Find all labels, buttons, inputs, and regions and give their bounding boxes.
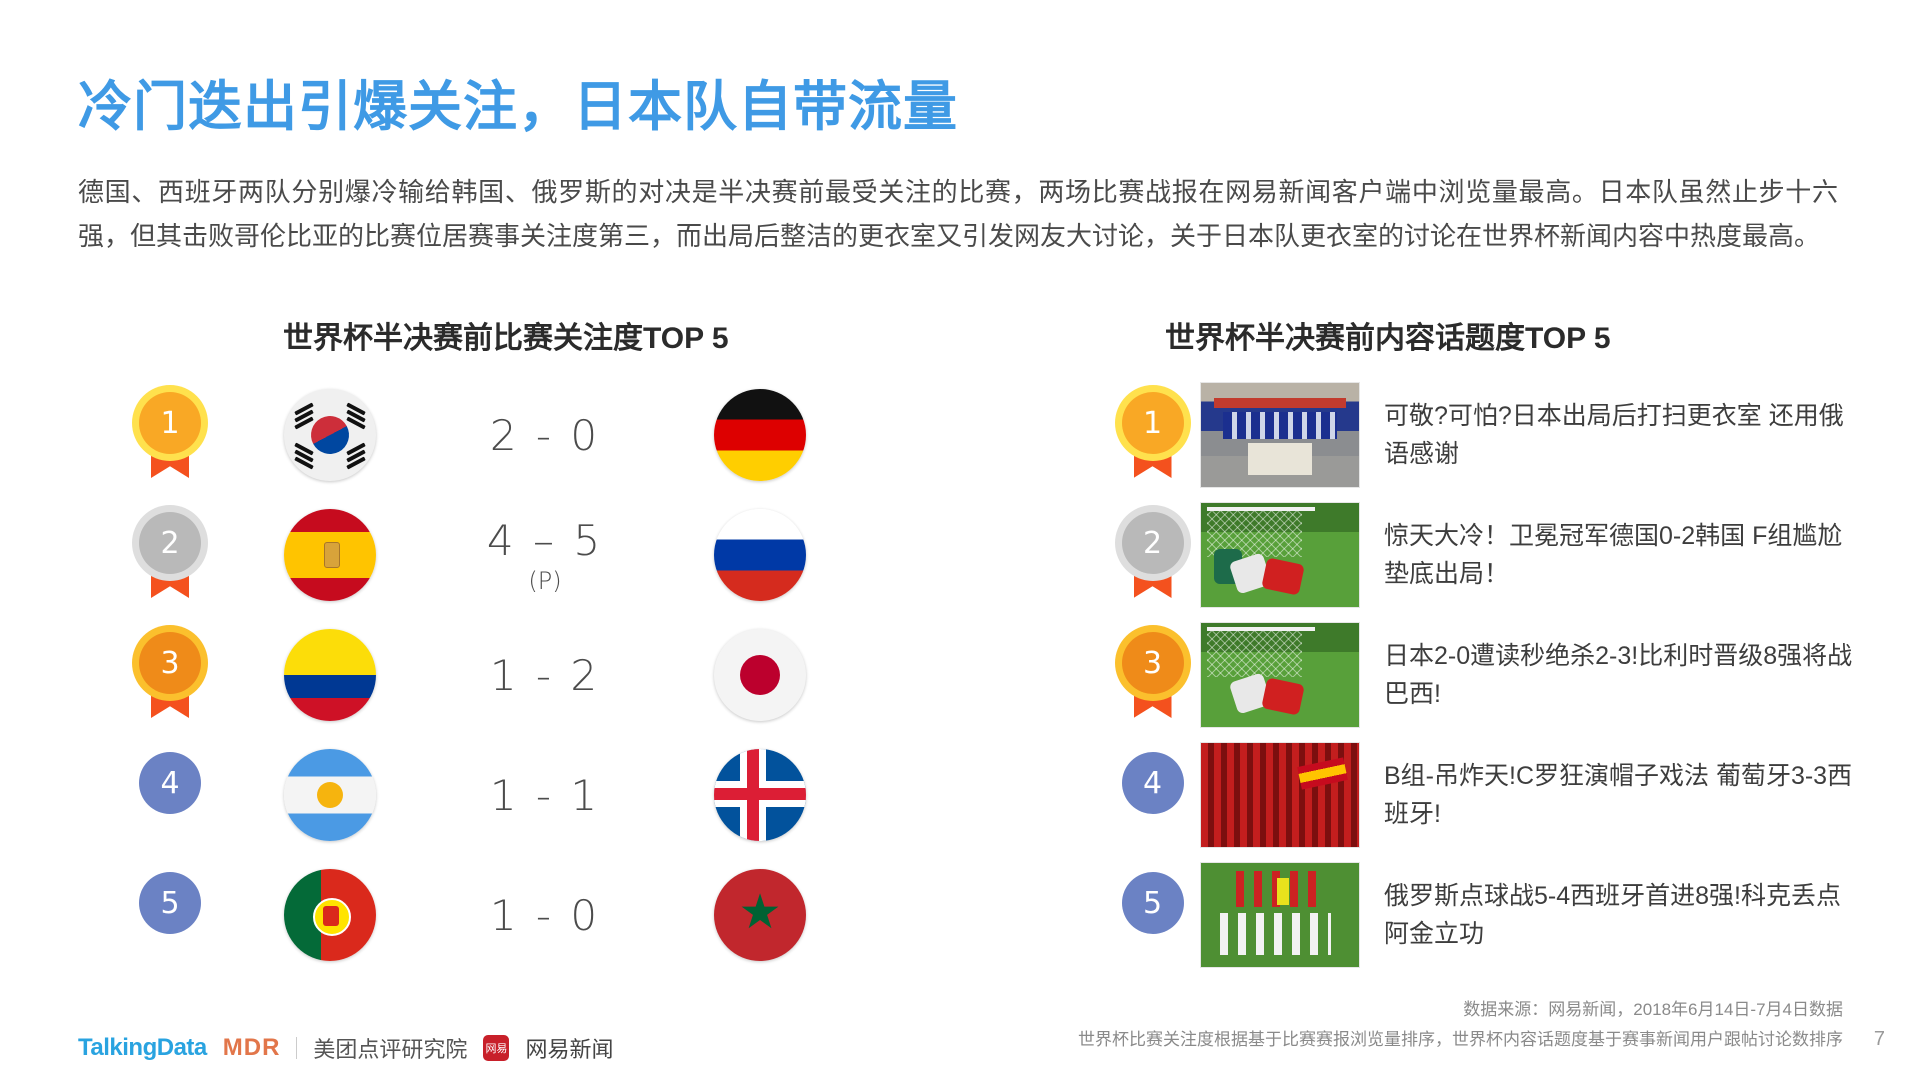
brand-logo-bar: TalkingData MDR 美团点评研究院 网易 网易新闻 — [78, 1032, 613, 1064]
meituan-research-label: 美团点评研究院 — [313, 1032, 467, 1064]
intro-paragraph: 德国、西班牙两队分别爆冷输给韩国、俄罗斯的对决是半决赛前最受关注的比赛，两场比赛… — [78, 170, 1838, 258]
news-headline[interactable]: B组-吊炸天!C罗狂演帽子戏法 葡萄牙3-3西班牙! — [1384, 757, 1854, 833]
flag-korea-icon — [284, 389, 376, 481]
score-cell: 4 – 5 (P) — [430, 516, 660, 595]
home-flag-cell — [230, 749, 430, 841]
away-flag-cell — [660, 509, 860, 601]
netease-icon: 网易 — [483, 1035, 509, 1061]
page-title: 冷门迭出引爆关注，日本队自带流量 — [78, 62, 958, 141]
flag-portugal-icon — [284, 869, 376, 961]
flag-argentina-icon — [284, 749, 376, 841]
flag-japan-icon — [714, 629, 806, 721]
rank-number: 2 — [1122, 512, 1184, 574]
right-column-heading: 世界杯半决赛前内容话题度TOP 5 — [1165, 313, 1611, 357]
news-ranking-list: 1 可敬?可怕?日本出局后打扫更衣室 还用俄语感谢 2 惊天大冷！卫冕冠军德国0… — [1105, 375, 1865, 975]
table-row[interactable]: 5 1 - 0 ★ — [110, 855, 900, 975]
rank-number: 5 — [139, 872, 201, 934]
news-thumbnail[interactable] — [1200, 742, 1360, 848]
rank-cell: 5 — [110, 872, 230, 958]
mdr-logo: MDR — [223, 1034, 281, 1062]
rank-number: 4 — [139, 752, 201, 814]
list-item[interactable]: 5 俄罗斯点球战5-4西班牙首进8强!科克丢点阿金立功 — [1105, 855, 1865, 975]
list-item[interactable]: 2 惊天大冷！卫冕冠军德国0-2韩国 F组尴尬垫底出局！ — [1105, 495, 1865, 615]
table-row[interactable]: 2 4 – 5 (P) — [110, 495, 900, 615]
score-cell: 1 - 2 — [430, 651, 660, 700]
rank-badge-4: 4 — [1122, 752, 1184, 838]
score-value: 1 - 1 — [490, 771, 600, 820]
rank-number: 3 — [139, 632, 201, 694]
netease-news-label: 网易新闻 — [525, 1032, 613, 1064]
medal-bronze-icon: 3 — [139, 632, 201, 718]
rank-number: 5 — [1122, 872, 1184, 934]
left-column-heading: 世界杯半决赛前比赛关注度TOP 5 — [283, 313, 729, 357]
away-flag-cell — [660, 389, 860, 481]
home-flag-cell — [230, 389, 430, 481]
list-item[interactable]: 1 可敬?可怕?日本出局后打扫更衣室 还用俄语感谢 — [1105, 375, 1865, 495]
home-flag-cell — [230, 629, 430, 721]
page-number: 7 — [1874, 1028, 1885, 1051]
flag-spain-icon — [284, 509, 376, 601]
score-value: 1 - 0 — [490, 891, 600, 940]
rank-cell: 1 — [110, 392, 230, 478]
away-flag-cell — [660, 749, 860, 841]
score-value: 2 - 0 — [490, 411, 600, 460]
score-value: 4 – 5 — [487, 516, 603, 565]
news-headline[interactable]: 可敬?可怕?日本出局后打扫更衣室 还用俄语感谢 — [1384, 397, 1854, 473]
source-line-1: 数据来源：网易新闻，2018年6月14日-7月4日数据 — [1078, 995, 1843, 1025]
list-item[interactable]: 4 B组-吊炸天!C罗狂演帽子戏法 葡萄牙3-3西班牙! — [1105, 735, 1865, 855]
news-headline[interactable]: 日本2-0遭读秒绝杀2-3!比利时晋级8强将战巴西! — [1384, 637, 1854, 713]
rank-cell: 5 — [1105, 872, 1200, 958]
match-ranking-list: 1 2 - 0 — [110, 375, 900, 975]
medal-gold-icon: 1 — [1122, 392, 1184, 478]
mdr-logo-m: M — [223, 1034, 244, 1061]
home-flag-cell — [230, 509, 430, 601]
flag-russia-icon — [714, 509, 806, 601]
flag-iceland-icon — [714, 749, 806, 841]
news-thumbnail[interactable] — [1200, 382, 1360, 488]
rank-cell: 1 — [1105, 392, 1200, 478]
news-headline[interactable]: 俄罗斯点球战5-4西班牙首进8强!科克丢点阿金立功 — [1384, 877, 1854, 953]
rank-cell: 3 — [110, 632, 230, 718]
news-thumbnail[interactable] — [1200, 502, 1360, 608]
medal-bronze-icon: 3 — [1122, 632, 1184, 718]
flag-colombia-icon — [284, 629, 376, 721]
medal-gold-icon: 1 — [139, 392, 201, 478]
rank-cell: 2 — [1105, 512, 1200, 598]
away-flag-cell — [660, 629, 860, 721]
table-row[interactable]: 1 2 - 0 — [110, 375, 900, 495]
away-flag-cell: ★ — [660, 869, 860, 961]
table-row[interactable]: 4 1 - 1 — [110, 735, 900, 855]
flag-morocco-icon: ★ — [714, 869, 806, 961]
rank-number: 1 — [1122, 392, 1184, 454]
source-line-2: 世界杯比赛关注度根据基于比赛赛报浏览量排序，世界杯内容话题度基于赛事新闻用户跟帖… — [1078, 1025, 1843, 1055]
list-item[interactable]: 3 日本2-0遭读秒绝杀2-3!比利时晋级8强将战巴西! — [1105, 615, 1865, 735]
rank-badge-4: 4 — [139, 752, 201, 838]
rank-number: 3 — [1122, 632, 1184, 694]
divider — [296, 1037, 297, 1059]
rank-cell: 2 — [110, 512, 230, 598]
news-thumbnail[interactable] — [1200, 862, 1360, 968]
score-cell: 1 - 0 — [430, 891, 660, 940]
medal-silver-icon: 2 — [1122, 512, 1184, 598]
table-row[interactable]: 3 1 - 2 — [110, 615, 900, 735]
score-note: (P) — [430, 567, 660, 595]
rank-cell: 3 — [1105, 632, 1200, 718]
rank-cell: 4 — [110, 752, 230, 838]
news-thumbnail[interactable] — [1200, 622, 1360, 728]
slide-root: 冷门迭出引爆关注，日本队自带流量 德国、西班牙两队分别爆冷输给韩国、俄罗斯的对决… — [0, 0, 1921, 1080]
rank-badge-5: 5 — [1122, 872, 1184, 958]
score-value: 1 - 2 — [490, 651, 600, 700]
score-cell: 2 - 0 — [430, 411, 660, 460]
medal-silver-icon: 2 — [139, 512, 201, 598]
rank-number: 4 — [1122, 752, 1184, 814]
flag-germany-icon — [714, 389, 806, 481]
rank-badge-5: 5 — [139, 872, 201, 958]
rank-number: 1 — [139, 392, 201, 454]
talkingdata-logo: TalkingData — [78, 1034, 207, 1062]
rank-cell: 4 — [1105, 752, 1200, 838]
news-headline[interactable]: 惊天大冷！卫冕冠军德国0-2韩国 F组尴尬垫底出局！ — [1384, 517, 1854, 593]
rank-number: 2 — [139, 512, 201, 574]
source-note: 数据来源：网易新闻，2018年6月14日-7月4日数据 世界杯比赛关注度根据基于… — [1078, 995, 1843, 1055]
mdr-logo-dr: DR — [244, 1034, 281, 1061]
score-cell: 1 - 1 — [430, 771, 660, 820]
home-flag-cell — [230, 869, 430, 961]
